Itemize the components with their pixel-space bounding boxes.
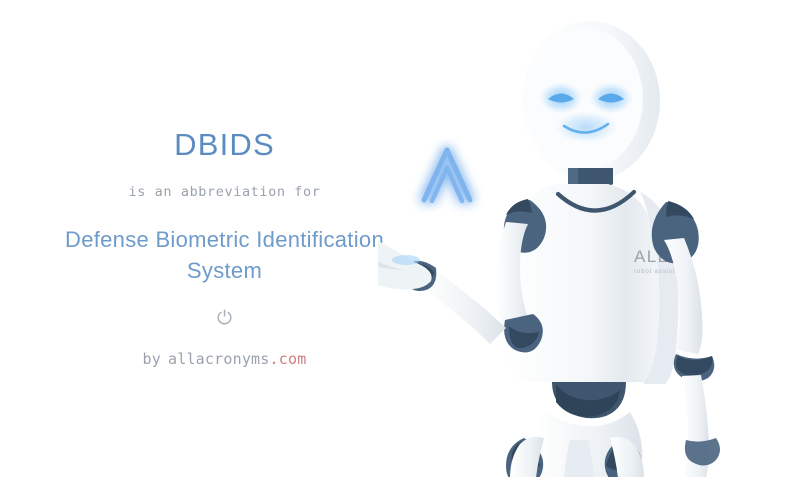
acronym-title: DBIDS [174,128,275,162]
acronym-card-image: DBIDS is an abbreviation for Defense Bio… [0,0,801,477]
acronym-expansion-text: Defense Biometric Identification System [55,224,395,286]
abbreviation-connector-text: is an abbreviation for [128,184,320,200]
byline-prefix: by [143,350,161,368]
byline-site-name: allacronyms [168,350,270,368]
byline-site-tld: .com [270,350,307,368]
byline: byallacronyms.com [143,350,307,368]
robot-head [520,21,660,181]
robot-legs [506,437,644,477]
robot-assistant-illustration: ALEX robot assistant [378,0,801,477]
power-icon: ⏻ [217,309,232,328]
